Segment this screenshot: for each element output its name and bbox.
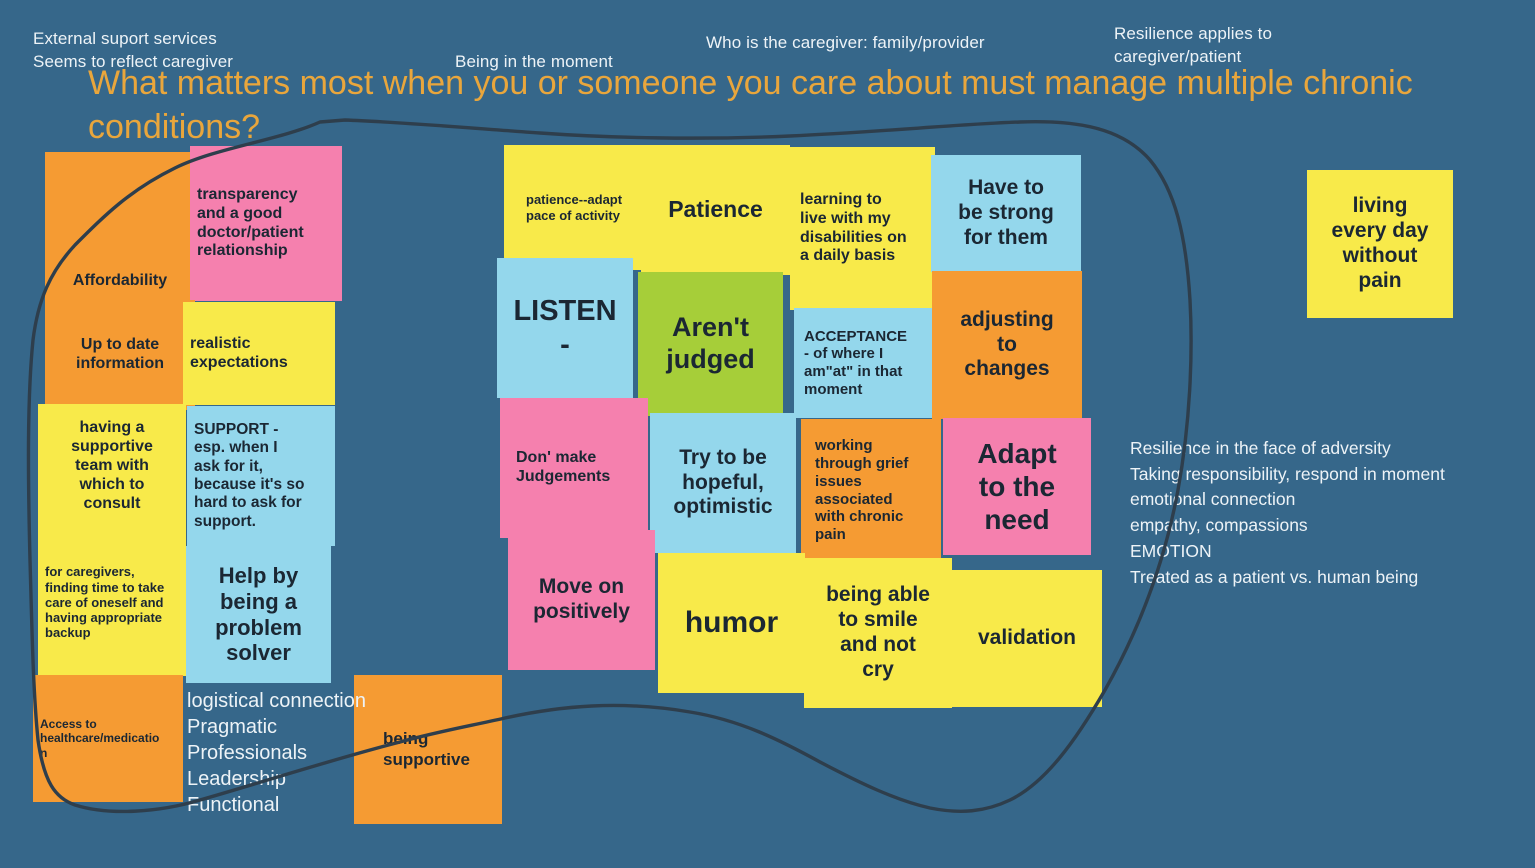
text-list-resilience: Resilience in the face of adversity Taki… [1130, 436, 1530, 590]
note-supportive-team[interactable]: having a supportive team with which to c… [38, 404, 186, 529]
note-up-to-date-information[interactable]: Up to date information [45, 300, 195, 410]
note-acceptance[interactable]: ACCEPTANCE - of where I am"at" in that m… [794, 308, 935, 418]
note-patience-adapt-pace[interactable]: patience--adapt pace of activity [504, 145, 641, 270]
note-patience[interactable]: Patience [641, 145, 790, 275]
note-listen[interactable]: LISTEN - [497, 258, 633, 398]
note-support-esp-when-i-ask[interactable]: SUPPORT - esp. when I ask for it, becaus… [187, 406, 335, 546]
note-adjusting-to-changes[interactable]: adjusting to changes [932, 271, 1082, 419]
annotation-who-is-caregiver: Who is the caregiver: family/provider [706, 31, 1106, 54]
note-try-to-be-hopeful[interactable]: Try to be hopeful, optimistic [650, 413, 796, 553]
note-working-through-grief[interactable]: working through grief issues associated … [801, 419, 941, 562]
page-title: What matters most when you or someone yo… [88, 62, 1488, 149]
note-for-caregivers-finding-time[interactable]: for caregivers, finding time to take car… [38, 529, 186, 676]
note-adapt-to-the-need[interactable]: Adapt to the need [943, 418, 1091, 555]
note-arent-judged[interactable]: Aren't judged [638, 272, 783, 416]
note-realistic-expectations[interactable]: realistic expectations [183, 302, 335, 405]
note-access-to-healthcare[interactable]: Access to healthcare/medicatio n [33, 675, 183, 802]
note-humor[interactable]: humor [658, 553, 805, 693]
note-help-by-being-problem-solver[interactable]: Help by being a problem solver [186, 546, 331, 683]
note-being-able-to-smile[interactable]: being able to smile and not cry [804, 558, 952, 708]
note-learning-to-live[interactable]: learning to live with my disabilities on… [790, 147, 935, 310]
note-transparency[interactable]: transparency and a good doctor/patient r… [190, 146, 342, 301]
text-list-logistical: logistical connection Pragmatic Professi… [187, 688, 387, 818]
note-have-to-be-strong[interactable]: Have to be strong for them [931, 155, 1081, 272]
note-validation[interactable]: validation [952, 570, 1102, 707]
note-move-on-positively[interactable]: Move on positively [508, 530, 655, 670]
whiteboard-canvas: Affordability transparency and a good do… [0, 0, 1535, 868]
note-dont-make-judgements[interactable]: Don' make Judgements [500, 398, 648, 538]
note-living-every-day-without-pain[interactable]: living every day without pain [1307, 170, 1453, 318]
